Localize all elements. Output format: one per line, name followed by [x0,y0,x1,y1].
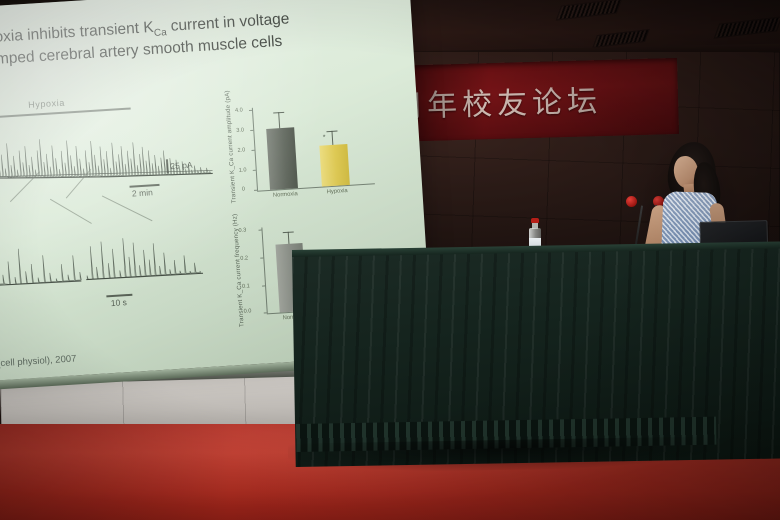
leader-line [50,199,92,224]
slide-title-subscript: Ca [154,27,167,39]
chart1-x-label-hypoxia: Hypoxia [317,187,357,195]
slide-title: poxia inhibits transient KCa current in … [0,2,407,71]
leader-line [102,196,153,222]
trace-condition-label: Hypoxia [28,98,65,110]
chart1-error-bar [278,112,280,129]
banner-shading [385,58,679,142]
chart2-y-tick: 0.3 [238,219,373,233]
mic-head-icon [626,196,637,207]
chart1-bar-hypoxia [319,144,350,187]
chart1-error-bar [331,131,333,146]
trace-svg-upper [0,111,213,198]
electrophysiology-trace-upper [0,111,213,198]
electrophysiology-trace-lower [0,227,204,296]
chart1-y-tick: 1.0 [239,158,390,173]
scale-label-time-long: 2 min [132,187,153,198]
lecture-hall-photo: 周年校友论坛 poxia inhibits transient KCa curr… [0,0,780,520]
slide-title-part2: current in voltage [166,10,290,35]
chart2-y-axis [261,227,267,313]
trace-svg-lower [0,227,204,296]
bar-chart-amplitude: Transient K_Ca current amplitude (pA) 4.… [228,89,395,211]
chart1-significance-marker: * [323,134,326,141]
scale-label-time-short: 10 s [111,297,128,308]
slide-citation: siol (cell physiol), 2007 [0,353,77,370]
chart1-x-label-normoxia: Normoxia [264,191,306,200]
chart1-y-tick: 4.0 [235,98,386,113]
scale-label-amplitude: 25 pA [170,160,193,171]
chart1-y-tick: 3.0 [236,118,387,133]
chart1-bar-normoxia [266,127,298,190]
chart1-y-tick: 2.0 [237,138,388,153]
venue-banner: 周年校友论坛 [385,58,679,142]
